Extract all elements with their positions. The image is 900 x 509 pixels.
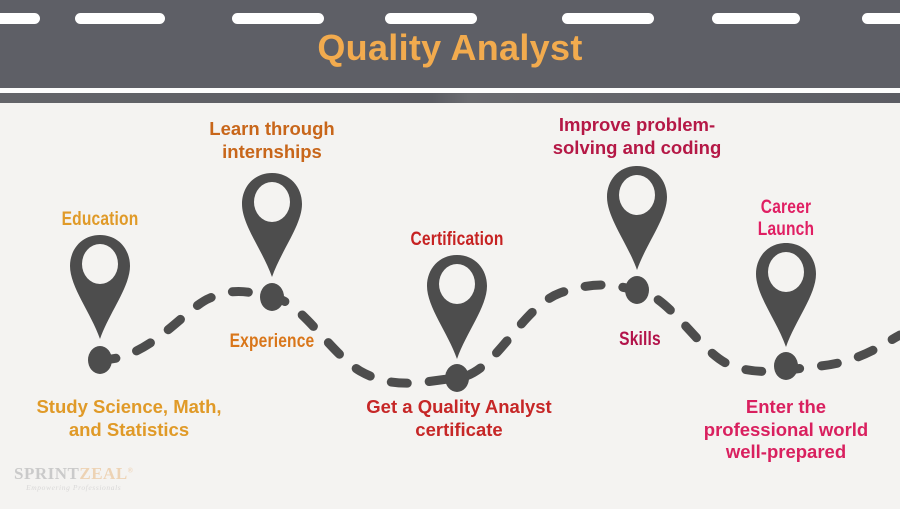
stage-label-career-launch: Career Launch — [720, 197, 851, 241]
description-line: certificate — [330, 419, 588, 442]
description-line: Improve problem- — [522, 114, 752, 137]
description-line: Study Science, Math, — [0, 396, 264, 419]
description-line: internships — [172, 141, 372, 164]
description-line: and Statistics — [0, 419, 264, 442]
description-education: Study Science, Math, and Statistics — [0, 396, 264, 441]
road-dash — [712, 13, 800, 24]
road-dash — [232, 13, 324, 24]
map-pin-icon — [424, 253, 490, 361]
base-dot — [260, 283, 284, 311]
map-pin-icon — [67, 233, 133, 341]
registered-mark-icon: ® — [128, 466, 134, 474]
map-pin-icon — [239, 171, 305, 279]
base-dot — [445, 364, 469, 392]
stage-label-skills: Skills — [576, 329, 704, 351]
logo-wordmark: SPRINTZEAL® — [14, 464, 133, 484]
description-skills: Improve problem- solving and coding — [522, 114, 752, 159]
road-lane-dashes — [0, 13, 900, 27]
base-dot — [88, 346, 112, 374]
sprintzeal-logo: SPRINTZEAL® Empowering Professionals — [14, 464, 133, 492]
description-line: professional world — [670, 419, 900, 442]
base-dot — [774, 352, 798, 380]
road-dash — [862, 13, 900, 24]
description-line: well-prepared — [670, 441, 900, 464]
description-career-launch: Enter the professional world well-prepar… — [670, 396, 900, 464]
road-dash — [562, 13, 654, 24]
stage-label-education: Education — [34, 209, 165, 231]
journey-stage: Education Study Science, Math, and Stati… — [0, 103, 900, 509]
stage-label-experience: Experience — [206, 331, 337, 353]
road-header-banner: Quality Analyst — [0, 0, 900, 88]
stage-label-line: Launch — [720, 219, 851, 241]
map-pin-icon — [604, 164, 670, 272]
logo-tagline: Empowering Professionals — [14, 483, 133, 492]
logo-word-primary: SPRINT — [14, 464, 79, 483]
infographic-canvas: Quality Analyst Education Study Science,… — [0, 0, 900, 509]
description-line: solving and coding — [522, 137, 752, 160]
description-line: Learn through — [172, 118, 372, 141]
road-dash — [0, 13, 40, 24]
description-experience: Learn through internships — [172, 118, 372, 163]
road-dash — [385, 13, 477, 24]
stage-label-line: Career — [720, 197, 851, 219]
logo-word-accent: ZEAL — [79, 464, 127, 483]
road-dash — [75, 13, 165, 24]
page-title: Quality Analyst — [0, 27, 900, 69]
map-pin-icon — [753, 241, 819, 349]
description-line: Get a Quality Analyst — [330, 396, 588, 419]
base-dot — [625, 276, 649, 304]
road-lower-band — [0, 93, 900, 103]
stage-label-certification: Certification — [387, 229, 526, 251]
description-line: Enter the — [670, 396, 900, 419]
description-certification: Get a Quality Analyst certificate — [330, 396, 588, 441]
